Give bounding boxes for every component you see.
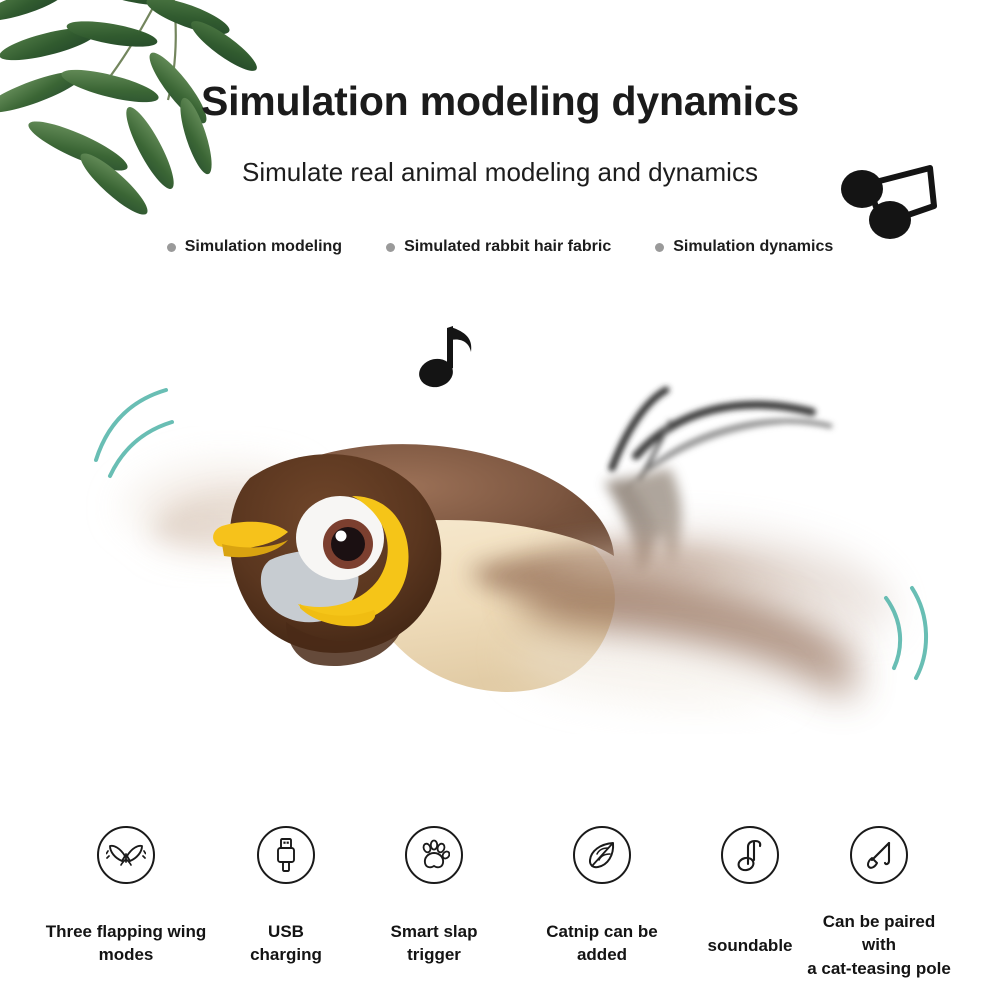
beamed-eighth-notes-icon <box>838 162 948 240</box>
feature-label: soundable <box>707 934 792 957</box>
leaf-icon <box>573 826 631 884</box>
music-note-icon <box>721 826 779 884</box>
bullet-label: Simulated rabbit hair fabric <box>404 238 611 256</box>
feature-label: Catnip can be added <box>528 920 676 967</box>
feature-label: Can be paired with a cat-teasing pole <box>806 910 952 980</box>
feature-item-flapping-wings[interactable]: Three flapping wing modes <box>22 826 230 967</box>
paw-print-icon <box>405 826 463 884</box>
bullet-label: Simulation modeling <box>185 238 342 256</box>
cat-teasing-pole-icon <box>850 826 908 884</box>
bullet-dot-icon <box>386 243 395 252</box>
bullet-label: Simulation dynamics <box>673 238 833 256</box>
feature-item-smart-slap-trigger[interactable]: Smart slap trigger <box>370 826 498 967</box>
flapping-wings-icon <box>97 826 155 884</box>
usb-plug-icon <box>257 826 315 884</box>
feature-label: Smart slap trigger <box>370 920 498 967</box>
feature-label: USB charging <box>230 920 342 967</box>
page-title: Simulation modeling dynamics <box>0 78 1000 125</box>
list-item: Simulation dynamics <box>655 238 833 256</box>
feature-strip: Three flapping wing modes USB charging <box>0 826 1000 986</box>
list-item: Simulated rabbit hair fabric <box>386 238 611 256</box>
product-feature-page: Simulation modeling dynamics Simulate re… <box>0 0 1000 1000</box>
feature-label: Three flapping wing modes <box>22 920 230 967</box>
bullet-dot-icon <box>655 243 664 252</box>
list-item: Simulation modeling <box>167 238 342 256</box>
bullet-dot-icon <box>167 243 176 252</box>
feature-item-catnip[interactable]: Catnip can be added <box>528 826 676 967</box>
feature-bullet-list: Simulation modeling Simulated rabbit hai… <box>0 238 1000 256</box>
feature-item-usb-charging[interactable]: USB charging <box>230 826 342 967</box>
feature-item-soundable[interactable]: soundable <box>700 826 800 957</box>
product-photo-flapping-bird <box>0 360 1000 800</box>
feature-item-cat-teasing-pole[interactable]: Can be paired with a cat-teasing pole <box>806 826 952 980</box>
